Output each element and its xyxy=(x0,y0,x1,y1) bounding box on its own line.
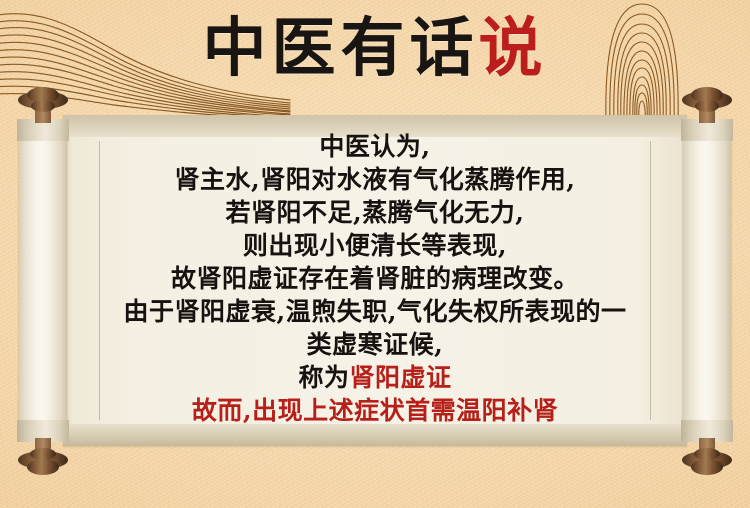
scroll-paper-bottom-band xyxy=(63,424,687,446)
body-line: 肾主水,肾阳对水液有气化蒸腾作用, xyxy=(92,163,658,196)
scroll-knob-bottom xyxy=(17,445,69,475)
title-red-part: 说 xyxy=(479,11,548,86)
body-line-emphasis: 故而,出现上述症状首需温阳补肾 xyxy=(92,394,658,427)
scroll-roller-right xyxy=(679,103,735,458)
body-line-mixed: 称为肾阳虚证 xyxy=(92,361,658,394)
body-line: 若肾阳不足,蒸腾气化无力, xyxy=(92,196,658,229)
poster-root: 中医有话说 xyxy=(0,0,750,508)
body-line: 则出现小便清长等表现, xyxy=(92,229,658,262)
title-black-part: 中医有话 xyxy=(203,11,479,86)
body-line: 故肾阳虚证存在着肾脏的病理改变。 xyxy=(92,262,658,295)
body-line: 由于肾阳虚衰,温煦失职,气化失权所表现的一 xyxy=(92,295,658,328)
scroll-body-text: 中医认为, 肾主水,肾阳对水液有气化蒸腾作用, 若肾阳不足,蒸腾气化无力, 则出… xyxy=(92,130,658,427)
scroll-roller-left-tube xyxy=(19,123,67,438)
scroll-roller-right-tube xyxy=(683,123,731,438)
scroll-knob-bottom xyxy=(681,445,733,475)
body-line: 中医认为, xyxy=(92,130,658,163)
body-line: 类虚寒证候, xyxy=(92,328,658,361)
body-line-red-part: 肾阳虚证 xyxy=(350,363,452,392)
title-text: 中医有话说 xyxy=(203,6,548,92)
scroll-roller-left xyxy=(15,103,71,458)
page-title: 中医有话说 xyxy=(0,6,750,92)
body-line-black-part: 称为 xyxy=(298,363,349,392)
